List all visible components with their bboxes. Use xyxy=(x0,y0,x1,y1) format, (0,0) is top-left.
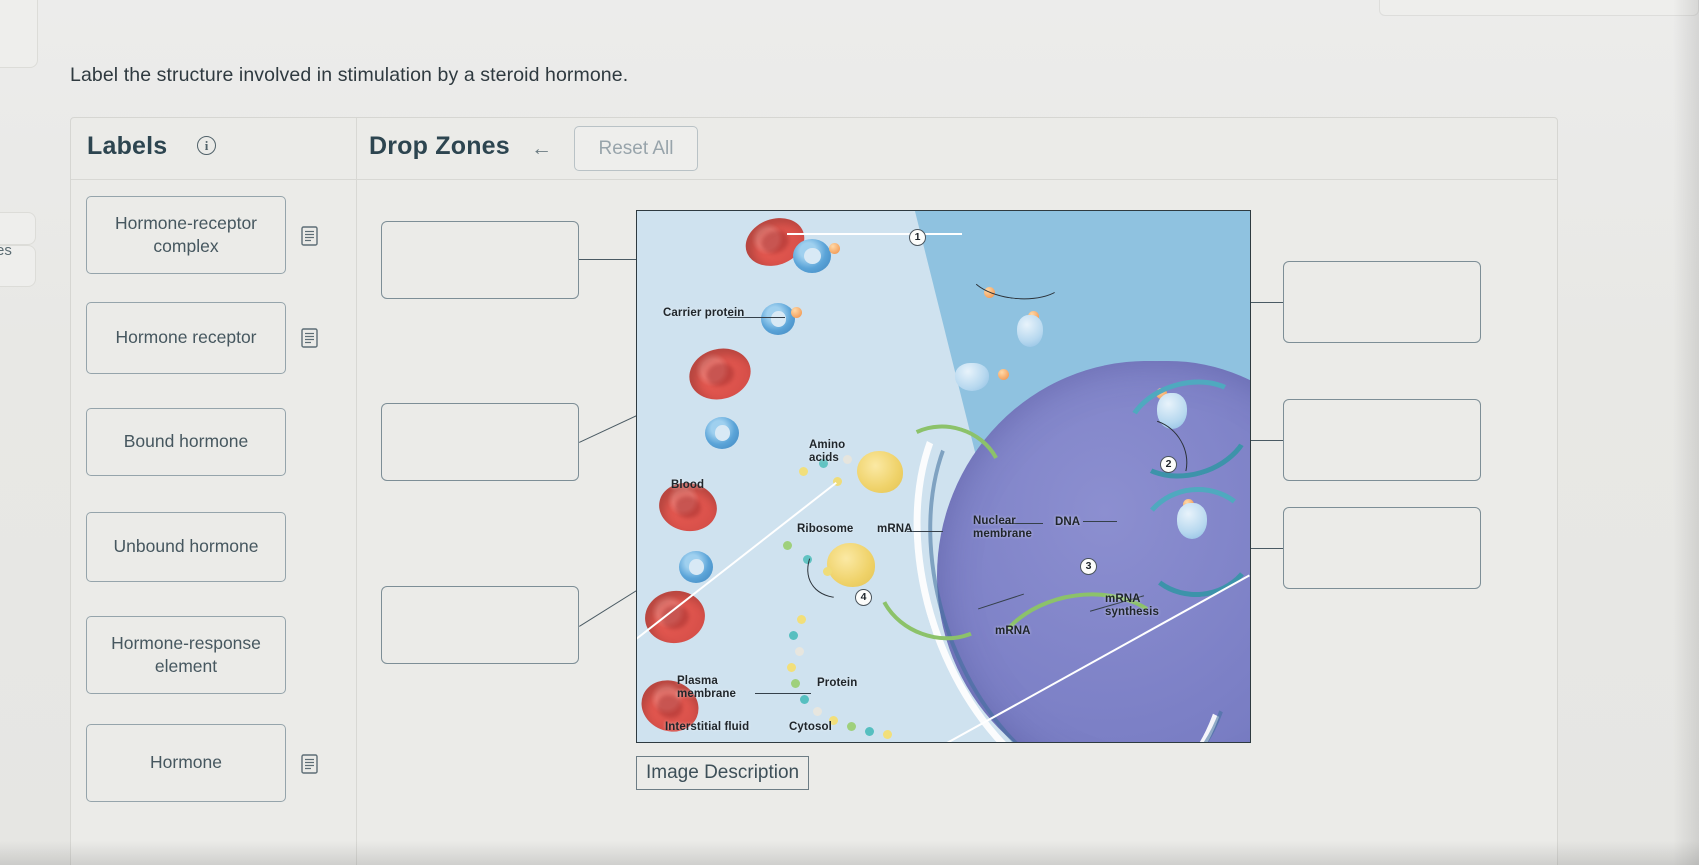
description-icon[interactable] xyxy=(301,754,318,774)
question-prompt: Label the structure involved in stimulat… xyxy=(70,64,628,87)
step-number-4: 4 xyxy=(855,589,872,606)
labels-list: Hormone-receptor complex Hormone recepto… xyxy=(71,180,356,865)
hormone-receptor xyxy=(1017,315,1043,347)
protein-bead xyxy=(787,663,796,672)
image-description-button[interactable]: Image Description xyxy=(636,756,809,790)
offscreen-panel-top-right xyxy=(1379,0,1699,16)
protein-bead xyxy=(791,679,800,688)
step-number-3: 3 xyxy=(1080,558,1097,575)
amino-acid xyxy=(799,467,808,476)
protein-bead xyxy=(865,727,874,736)
label-chip-text: Hormone xyxy=(150,751,222,774)
figure-label-mrna-synthesis: mRNA synthesis xyxy=(1105,593,1159,619)
leader-line xyxy=(1083,521,1117,522)
description-icon[interactable] xyxy=(301,226,318,246)
card-header: Labels i Drop Zones ← Reset All xyxy=(71,118,1557,180)
connector-line xyxy=(1251,302,1283,303)
app-root: es Label the structure involved in stimu… xyxy=(0,0,1699,865)
drop-zone[interactable] xyxy=(1283,261,1481,343)
offscreen-panel-mid xyxy=(0,212,36,245)
protein-bead xyxy=(813,707,822,716)
protein-bead xyxy=(795,647,804,656)
protein-bead xyxy=(789,631,798,640)
carrier-protein xyxy=(793,239,831,273)
offscreen-tab-label: es xyxy=(0,242,12,259)
drop-zone[interactable] xyxy=(381,221,579,299)
reset-all-button[interactable]: Reset All xyxy=(574,126,698,171)
figure-label-dna: DNA xyxy=(1055,516,1080,529)
hormone-molecule xyxy=(998,369,1009,380)
label-chip-text: Bound hormone xyxy=(124,430,249,453)
figure-label-mrna-2: mRNA xyxy=(995,625,1031,638)
carrier-protein xyxy=(761,303,795,335)
label-chip[interactable]: Hormone-response element xyxy=(86,616,286,694)
drop-zone[interactable] xyxy=(1283,507,1481,589)
drop-zone[interactable] xyxy=(381,586,579,664)
red-blood-cell xyxy=(642,587,709,647)
protein-bead xyxy=(797,615,806,624)
hormone-receptor xyxy=(955,363,989,391)
activity-card: Labels i Drop Zones ← Reset All Hormone-… xyxy=(70,117,1558,865)
figure-label-protein: Protein xyxy=(817,677,857,690)
label-chip[interactable]: Unbound hormone xyxy=(86,512,286,582)
leader-line xyxy=(787,233,962,235)
offscreen-panel-top xyxy=(0,0,38,68)
protein-bead xyxy=(883,730,892,739)
hormone-molecule xyxy=(791,307,802,318)
drop-zones-panel-title: Drop Zones xyxy=(369,132,510,161)
leader-line xyxy=(755,693,811,694)
carrier-protein xyxy=(705,417,739,449)
figure-label-blood: Blood xyxy=(671,479,704,492)
labels-panel-title: Labels xyxy=(87,132,167,161)
undo-arrow-icon[interactable]: ← xyxy=(531,138,552,159)
label-chip[interactable]: Hormone receptor xyxy=(86,302,286,374)
label-chip-text: Hormone-receptor complex xyxy=(95,212,277,258)
label-chip-text: Hormone receptor xyxy=(115,326,256,349)
protein-bead xyxy=(847,722,856,731)
figure-label-carrier-protein: Carrier protein xyxy=(663,307,744,320)
steroid-hormone-diagram: Carrier protein Blood Amino acids Riboso… xyxy=(636,210,1251,743)
right-edge-shadow xyxy=(1673,0,1699,865)
figure-label-mrna: mRNA xyxy=(877,523,913,536)
step-number-1: 1 xyxy=(909,229,926,246)
figure-label-nuclear-membrane: Nuclear membrane xyxy=(973,515,1025,541)
label-chip[interactable]: Hormone xyxy=(86,724,286,802)
amino-acid xyxy=(783,541,792,550)
drop-zone[interactable] xyxy=(1283,399,1481,481)
hormone-molecule xyxy=(829,243,840,254)
info-icon[interactable]: i xyxy=(197,136,216,155)
figure-label-amino-acids: Amino acids xyxy=(809,439,853,465)
drop-zone[interactable] xyxy=(381,403,579,481)
figure-label-plasma-membrane: Plasma membrane xyxy=(677,675,733,701)
description-icon[interactable] xyxy=(301,328,318,348)
diagram-artwork: Carrier protein Blood Amino acids Riboso… xyxy=(637,211,1250,742)
protein-bead xyxy=(800,695,809,704)
label-chip[interactable]: Bound hormone xyxy=(86,408,286,476)
label-chip-text: Hormone-response element xyxy=(95,632,277,678)
carrier-protein xyxy=(679,551,713,583)
step-number-2: 2 xyxy=(1160,456,1177,473)
figure-label-cytosol: Cytosol xyxy=(789,721,832,734)
panel-divider xyxy=(356,118,357,865)
figure-label-ribosome: Ribosome xyxy=(797,523,853,536)
label-chip[interactable]: Hormone-receptor complex xyxy=(86,196,286,274)
figure-label-interstitial-fluid: Interstitial fluid xyxy=(665,721,749,734)
label-chip-text: Unbound hormone xyxy=(114,535,259,558)
